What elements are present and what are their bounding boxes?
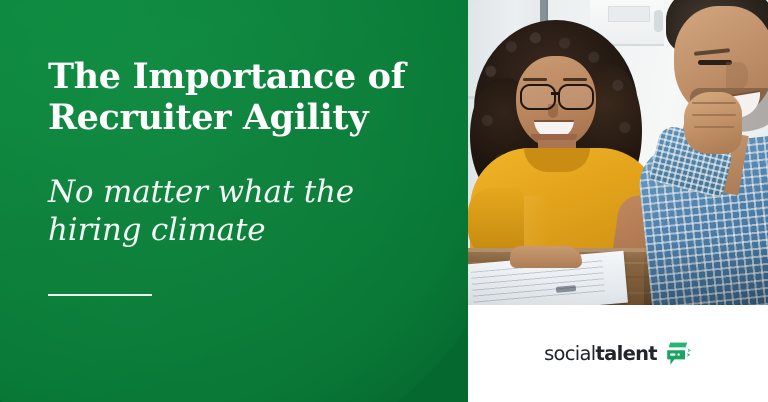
logo-wordmark: socialtalent [544,344,657,364]
green-text-panel: The Importance of Recruiter Agility No m… [0,0,468,402]
man-knuckle-crease [692,102,736,104]
logo-wordmark-social: social [544,342,595,365]
page-title: The Importance of Recruiter Agility [48,56,418,139]
logo-wordmark-talent: talent [596,342,657,365]
socialtalent-logo[interactable]: socialtalent [544,341,692,367]
panel-content: The Importance of Recruiter Agility No m… [48,56,418,296]
man-shirt-shadow [644,240,768,305]
woman-hand [510,246,582,268]
page-subtitle: No matter what the hiring climate [48,173,418,251]
man-knuckle-crease [694,126,734,128]
man-knuckle-crease [692,114,736,116]
logo-container: socialtalent [468,305,768,402]
man-nose [726,62,748,90]
divider-rule [48,294,152,296]
hero-photo [468,0,768,305]
marketing-banner: The Importance of Recruiter Agility No m… [0,0,768,402]
speech-bubble-icon [664,341,692,367]
photo-shelf [608,6,650,22]
photo-lamp [654,10,663,32]
